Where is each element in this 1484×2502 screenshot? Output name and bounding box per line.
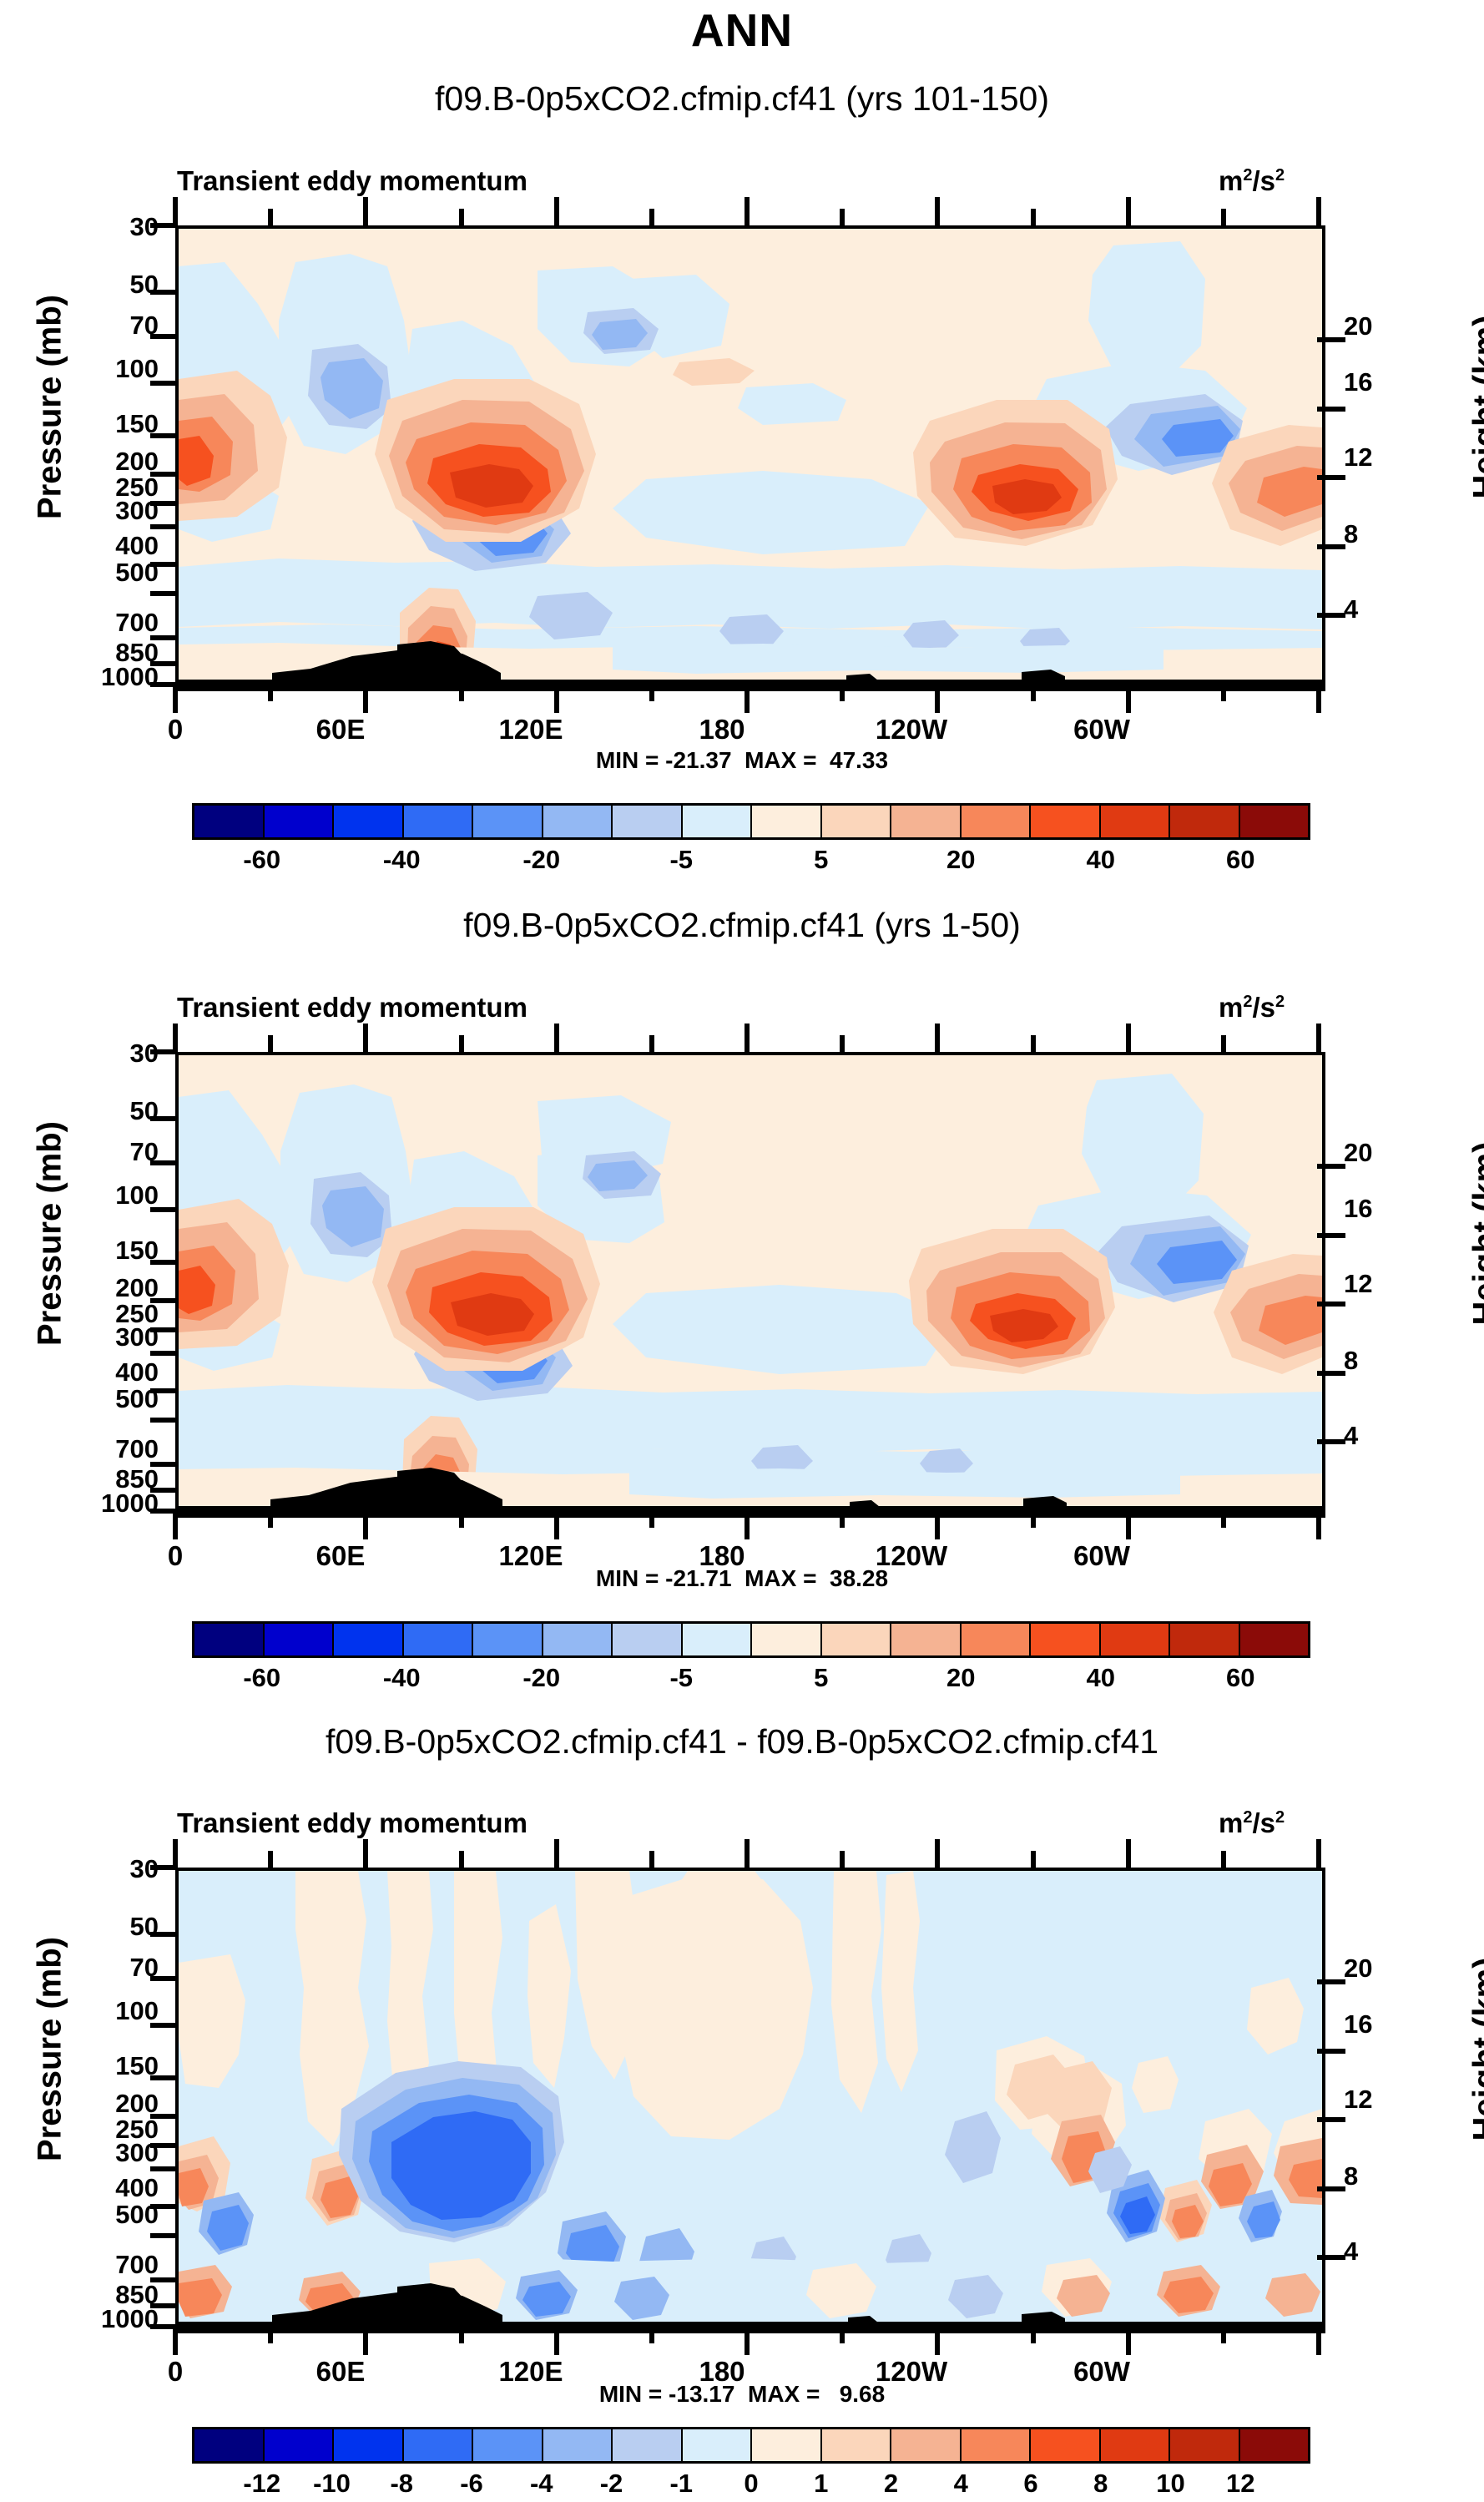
colorbar-segment-8 bbox=[752, 2429, 822, 2461]
ytick-mark-left bbox=[150, 381, 177, 386]
colorbar-tick-label: 6 bbox=[1023, 2469, 1037, 2499]
xtick-mark-bottom bbox=[1031, 685, 1036, 701]
ytick-50: 50 bbox=[33, 270, 159, 300]
xtick-mark bbox=[173, 197, 178, 225]
xtick-mark bbox=[935, 1839, 940, 1868]
ytick-mark-left bbox=[150, 1116, 177, 1121]
ytick-400: 400 bbox=[33, 1357, 159, 1387]
panel-2-units-label: m2/s2 bbox=[1219, 992, 1285, 1024]
xtick-mark-bottom bbox=[745, 1511, 750, 1539]
ytick-mark-right bbox=[1317, 613, 1345, 618]
panel-3: f09.B-0p5xCO2.cfmip.cf41 - f09.B-0p5xCO2… bbox=[0, 1649, 1484, 2483]
ytick-300: 300 bbox=[33, 496, 159, 526]
xtick-mark-bottom bbox=[649, 2327, 654, 2343]
ytick-height-12: 12 bbox=[1344, 442, 1372, 473]
xtick-mark-bottom bbox=[1221, 685, 1226, 701]
xtick-mark-bottom bbox=[363, 2327, 368, 2355]
colorbar-segment-11 bbox=[962, 2429, 1032, 2461]
xtick-mark-bottom bbox=[363, 1511, 368, 1539]
ytick-height-20: 20 bbox=[1344, 311, 1372, 341]
ytick-30: 30 bbox=[33, 1854, 159, 1884]
xtick-mark bbox=[268, 209, 273, 225]
xtick-mark bbox=[363, 1839, 368, 1868]
xtick-mark-bottom bbox=[649, 685, 654, 701]
ytick-height-4: 4 bbox=[1344, 594, 1358, 624]
xtick-mark-bottom bbox=[173, 685, 178, 713]
ytick-mark-left bbox=[150, 1207, 177, 1212]
panel-2-variable-label: Transient eddy momentum bbox=[177, 992, 527, 1024]
ytick-mark-right bbox=[1317, 1302, 1345, 1307]
xtick-mark bbox=[173, 1839, 178, 1868]
ytick-700: 700 bbox=[33, 1434, 159, 1464]
colorbar-segment-10 bbox=[891, 2429, 962, 2461]
ytick-mark-left bbox=[150, 472, 177, 477]
xtick-mark bbox=[1031, 1035, 1036, 1052]
xtick-mark-bottom bbox=[1221, 1511, 1226, 1528]
colorbar-tick-label: -6 bbox=[460, 2469, 483, 2499]
ytick-70: 70 bbox=[33, 311, 159, 341]
xtick-mark bbox=[1031, 209, 1036, 225]
colorbar-tick-label: -1 bbox=[669, 2469, 693, 2499]
panel-2-contour-field bbox=[179, 1055, 1322, 1514]
ytick-height-4: 4 bbox=[1344, 1421, 1358, 1451]
ytick-300: 300 bbox=[33, 1322, 159, 1352]
colorbar-tick-label: 10 bbox=[1156, 2469, 1184, 2499]
xtick-mark-bottom bbox=[840, 1511, 845, 1528]
ytick-mark-left bbox=[150, 1298, 177, 1303]
xtick-mark bbox=[745, 197, 750, 225]
ytick-100: 100 bbox=[33, 354, 159, 384]
ytick-mark-left bbox=[150, 1388, 177, 1393]
xtick-mark-bottom bbox=[1221, 2327, 1226, 2343]
panel-1-ylabel-right: Height (km) bbox=[1467, 282, 1484, 533]
units-base: m bbox=[1219, 1807, 1243, 1838]
xtick-mark bbox=[649, 1035, 654, 1052]
panel-3-colorbar-labels: -12-10-8-6-4-2-10124681012 bbox=[192, 2469, 1310, 2502]
xtick-mark-bottom bbox=[840, 685, 845, 701]
xtick-mark bbox=[363, 197, 368, 225]
xtick-mark-bottom bbox=[554, 685, 559, 713]
colorbar-segment-5 bbox=[543, 2429, 613, 2461]
ytick-mark-left bbox=[150, 1260, 177, 1265]
ytick-1000: 1000 bbox=[17, 2304, 159, 2334]
xtick-mark-bottom bbox=[268, 2327, 273, 2343]
panel-2: f09.B-0p5xCO2.cfmip.cf41 (yrs 1-50) Tran… bbox=[0, 826, 1484, 1711]
ytick-mark-right bbox=[1317, 2255, 1345, 2260]
xtick-mark-bottom bbox=[1316, 2327, 1321, 2355]
xtick-mark-bottom bbox=[1316, 1511, 1321, 1539]
xtick-mark bbox=[1316, 1839, 1321, 1868]
ytick-100: 100 bbox=[33, 1180, 159, 1211]
xtick-60E: 60E bbox=[282, 714, 399, 746]
xtick-mark-bottom bbox=[1126, 2327, 1131, 2355]
colorbar-tick-label: -4 bbox=[530, 2469, 553, 2499]
xtick-60W: 60W bbox=[1043, 714, 1160, 746]
ytick-700: 700 bbox=[33, 608, 159, 638]
xtick-mark bbox=[554, 197, 559, 225]
ytick-mark-left bbox=[150, 1462, 177, 1467]
ytick-500: 500 bbox=[33, 2200, 159, 2230]
units-divider: /s bbox=[1252, 1807, 1275, 1838]
ytick-1000: 1000 bbox=[17, 662, 159, 692]
xtick-mark bbox=[554, 1839, 559, 1868]
ytick-mark-right bbox=[1317, 1371, 1345, 1376]
xtick-mark-bottom bbox=[935, 685, 940, 713]
ytick-mark-left bbox=[150, 2143, 177, 2148]
xtick-mark-bottom bbox=[459, 685, 464, 701]
xtick-mark bbox=[268, 1035, 273, 1052]
panel-1-variable-label: Transient eddy momentum bbox=[177, 165, 527, 197]
xtick-mark bbox=[363, 1024, 368, 1052]
colorbar-tick-label: 0 bbox=[744, 2469, 758, 2499]
colorbar-segment-13 bbox=[1101, 2429, 1171, 2461]
ytick-mark-left bbox=[150, 591, 177, 596]
xtick-0: 0 bbox=[134, 714, 217, 746]
xtick-mark bbox=[840, 1035, 845, 1052]
xtick-mark bbox=[554, 1024, 559, 1052]
xtick-mark bbox=[1316, 1024, 1321, 1052]
xtick-mark bbox=[745, 1839, 750, 1868]
colorbar-segment-14 bbox=[1170, 2429, 1240, 2461]
ytick-mark-right bbox=[1317, 2117, 1345, 2122]
ytick-mark-left bbox=[150, 1160, 177, 1165]
panel-3-ylabel-right: Height (km) bbox=[1467, 1924, 1484, 2175]
ytick-150: 150 bbox=[33, 2051, 159, 2081]
xtick-mark-bottom bbox=[268, 685, 273, 701]
colorbar-tick-label: 12 bbox=[1226, 2469, 1254, 2499]
ytick-mark-left bbox=[150, 1976, 177, 1981]
ytick-height-16: 16 bbox=[1344, 1194, 1372, 1224]
xtick-mark bbox=[840, 209, 845, 225]
ytick-30: 30 bbox=[33, 1039, 159, 1069]
panel-2-ylabel-right: Height (km) bbox=[1467, 1109, 1484, 1359]
panel-3-title: f09.B-0p5xCO2.cfmip.cf41 - f09.B-0p5xCO2… bbox=[0, 1722, 1484, 1762]
panel-1-plot bbox=[175, 225, 1325, 691]
ytick-mark-left bbox=[150, 2023, 177, 2028]
xtick-mark bbox=[649, 209, 654, 225]
xtick-mark-bottom bbox=[840, 2327, 845, 2343]
ytick-mark-right bbox=[1317, 1233, 1345, 1238]
ytick-mark-left bbox=[150, 1418, 177, 1423]
colorbar-tick-label: -8 bbox=[390, 2469, 413, 2499]
ytick-mark-right bbox=[1317, 1164, 1345, 1169]
xtick-mark bbox=[1221, 1035, 1226, 1052]
panel-2-plot bbox=[175, 1052, 1325, 1518]
panel-3-contour-field bbox=[179, 1871, 1322, 2330]
panel-1-minmax: MIN = -21.37 MAX = 47.33 bbox=[0, 747, 1484, 774]
xtick-mark bbox=[935, 197, 940, 225]
colorbar-segment-1 bbox=[265, 2429, 335, 2461]
xtick-mark bbox=[1126, 197, 1131, 225]
ytick-70: 70 bbox=[33, 1137, 159, 1167]
colorbar-segment-15 bbox=[1240, 2429, 1309, 2461]
ytick-mark-left bbox=[150, 562, 177, 567]
units-exponent-2: 2 bbox=[1275, 166, 1285, 184]
xtick-mark-bottom bbox=[363, 685, 368, 713]
colorbar-segment-3 bbox=[404, 2429, 474, 2461]
xtick-mark bbox=[649, 1851, 654, 1868]
ytick-700: 700 bbox=[33, 2250, 159, 2280]
ytick-height-4: 4 bbox=[1344, 2237, 1358, 2267]
ytick-mark-right bbox=[1317, 407, 1345, 412]
ytick-mark-right bbox=[1317, 544, 1345, 549]
xtick-mark-bottom bbox=[649, 1511, 654, 1528]
ytick-mark-left bbox=[150, 2166, 177, 2171]
ytick-height-8: 8 bbox=[1344, 519, 1358, 549]
panel-3-colorbar[interactable] bbox=[192, 2427, 1310, 2464]
xtick-mark bbox=[840, 1851, 845, 1868]
xtick-mark bbox=[173, 1024, 178, 1052]
ytick-500: 500 bbox=[33, 1384, 159, 1414]
colorbar-segment-6 bbox=[613, 2429, 683, 2461]
ytick-100: 100 bbox=[33, 1996, 159, 2026]
xtick-mark bbox=[1221, 1851, 1226, 1868]
xtick-mark bbox=[935, 1024, 940, 1052]
xtick-120W: 120W bbox=[853, 714, 970, 746]
ytick-mark-left bbox=[150, 501, 177, 506]
xtick-mark bbox=[459, 1851, 464, 1868]
xtick-mark-bottom bbox=[1126, 685, 1131, 713]
ytick-300: 300 bbox=[33, 2138, 159, 2168]
colorbar-tick-label: 8 bbox=[1093, 2469, 1108, 2499]
xtick-mark-bottom bbox=[1031, 1511, 1036, 1528]
xtick-mark-bottom bbox=[554, 2327, 559, 2355]
ytick-50: 50 bbox=[33, 1096, 159, 1126]
ytick-150: 150 bbox=[33, 409, 159, 439]
ytick-mark-left bbox=[150, 635, 177, 640]
ytick-mark-left bbox=[150, 2114, 177, 2119]
units-base: m bbox=[1219, 165, 1243, 196]
ytick-height-16: 16 bbox=[1344, 2009, 1372, 2040]
ytick-mark-left bbox=[150, 2204, 177, 2209]
ytick-mark-right bbox=[1317, 475, 1345, 480]
xtick-mark bbox=[1316, 197, 1321, 225]
units-exponent-1: 2 bbox=[1243, 166, 1252, 184]
xtick-mark bbox=[459, 209, 464, 225]
xtick-mark-bottom bbox=[745, 2327, 750, 2355]
ytick-mark-left bbox=[150, 2233, 177, 2238]
xtick-mark-bottom bbox=[554, 1511, 559, 1539]
panel-2-title: f09.B-0p5xCO2.cfmip.cf41 (yrs 1-50) bbox=[0, 906, 1484, 945]
ytick-mark-left bbox=[150, 1327, 177, 1332]
xtick-mark-bottom bbox=[935, 1511, 940, 1539]
ytick-mark-left bbox=[150, 1488, 177, 1493]
panel-2-minmax: MIN = -21.71 MAX = 38.28 bbox=[0, 1565, 1484, 1592]
colorbar-segment-12 bbox=[1031, 2429, 1101, 2461]
units-base: m bbox=[1219, 992, 1243, 1023]
ytick-height-16: 16 bbox=[1344, 367, 1372, 397]
units-divider: /s bbox=[1252, 165, 1275, 196]
ytick-mark-left bbox=[150, 661, 177, 666]
panel-1-title: f09.B-0p5xCO2.cfmip.cf41 (yrs 101-150) bbox=[0, 79, 1484, 119]
ytick-30: 30 bbox=[33, 212, 159, 242]
panel-1: f09.B-0p5xCO2.cfmip.cf41 (yrs 101-150) T… bbox=[0, 0, 1484, 885]
xtick-mark bbox=[1126, 1839, 1131, 1868]
ytick-height-20: 20 bbox=[1344, 1138, 1372, 1168]
ytick-mark-left bbox=[150, 2303, 177, 2308]
ytick-height-20: 20 bbox=[1344, 1954, 1372, 1984]
colorbar-tick-label: 1 bbox=[814, 2469, 828, 2499]
xtick-mark bbox=[459, 1035, 464, 1052]
xtick-mark bbox=[268, 1851, 273, 1868]
xtick-mark-bottom bbox=[268, 1511, 273, 1528]
xtick-mark-bottom bbox=[1316, 685, 1321, 713]
xtick-mark bbox=[1126, 1024, 1131, 1052]
units-exponent-2: 2 bbox=[1275, 1808, 1285, 1827]
colorbar-segment-0 bbox=[194, 2429, 265, 2461]
colorbar-tick-label: -2 bbox=[600, 2469, 623, 2499]
colorbar-tick-label: -12 bbox=[243, 2469, 280, 2499]
colorbar-segment-4 bbox=[473, 2429, 543, 2461]
ytick-mark-left bbox=[150, 433, 177, 438]
colorbar-segment-9 bbox=[822, 2429, 892, 2461]
ytick-mark-right bbox=[1317, 2049, 1345, 2054]
ytick-mark-right bbox=[1317, 1439, 1345, 1444]
xtick-mark bbox=[1221, 209, 1226, 225]
ytick-400: 400 bbox=[33, 2173, 159, 2203]
xtick-mark-bottom bbox=[935, 2327, 940, 2355]
ytick-height-12: 12 bbox=[1344, 2085, 1372, 2115]
ytick-height-8: 8 bbox=[1344, 1346, 1358, 1376]
ytick-mark-left bbox=[150, 334, 177, 339]
xtick-mark-bottom bbox=[459, 1511, 464, 1528]
xtick-mark-bottom bbox=[745, 685, 750, 713]
ytick-mark-left bbox=[150, 1351, 177, 1356]
ytick-50: 50 bbox=[33, 1912, 159, 1942]
colorbar-tick-label: 4 bbox=[954, 2469, 968, 2499]
xtick-mark-bottom bbox=[173, 1511, 178, 1539]
ytick-mark-left bbox=[150, 2277, 177, 2282]
xtick-mark-bottom bbox=[459, 2327, 464, 2343]
ytick-mark-right bbox=[1317, 2186, 1345, 2191]
colorbar-segment-7 bbox=[683, 2429, 753, 2461]
xtick-mark-bottom bbox=[1126, 1511, 1131, 1539]
colorbar-tick-label: 2 bbox=[884, 2469, 898, 2499]
ytick-500: 500 bbox=[33, 558, 159, 588]
xtick-mark bbox=[745, 1024, 750, 1052]
ytick-70: 70 bbox=[33, 1953, 159, 1983]
xtick-mark bbox=[1031, 1851, 1036, 1868]
ytick-150: 150 bbox=[33, 1236, 159, 1266]
ytick-mark-left bbox=[150, 1932, 177, 1937]
units-divider: /s bbox=[1252, 992, 1275, 1023]
units-exponent-1: 2 bbox=[1243, 1808, 1252, 1827]
panel-3-units-label: m2/s2 bbox=[1219, 1807, 1285, 1839]
ytick-mark-left bbox=[150, 2075, 177, 2080]
ytick-400: 400 bbox=[33, 531, 159, 561]
xtick-mark-bottom bbox=[173, 2327, 178, 2355]
colorbar-segment-2 bbox=[334, 2429, 404, 2461]
panel-1-units-label: m2/s2 bbox=[1219, 165, 1285, 197]
panel-3-variable-label: Transient eddy momentum bbox=[177, 1807, 527, 1839]
xtick-mark-bottom bbox=[1031, 2327, 1036, 2343]
ytick-height-8: 8 bbox=[1344, 2161, 1358, 2191]
xtick-120E: 120E bbox=[472, 714, 589, 746]
units-exponent-2: 2 bbox=[1275, 993, 1285, 1011]
ytick-1000: 1000 bbox=[17, 1489, 159, 1519]
ytick-height-12: 12 bbox=[1344, 1269, 1372, 1299]
xtick-180: 180 bbox=[664, 714, 780, 746]
units-exponent-1: 2 bbox=[1243, 993, 1252, 1011]
panel-3-minmax: MIN = -13.17 MAX = 9.68 bbox=[0, 2381, 1484, 2408]
ytick-mark-right bbox=[1317, 1979, 1345, 1984]
colorbar-tick-label: -10 bbox=[313, 2469, 351, 2499]
ytick-mark-right bbox=[1317, 337, 1345, 342]
panel-3-plot bbox=[175, 1868, 1325, 2333]
ytick-mark-left bbox=[150, 290, 177, 295]
ytick-mark-left bbox=[150, 524, 177, 529]
panel-1-contour-field bbox=[179, 229, 1322, 688]
